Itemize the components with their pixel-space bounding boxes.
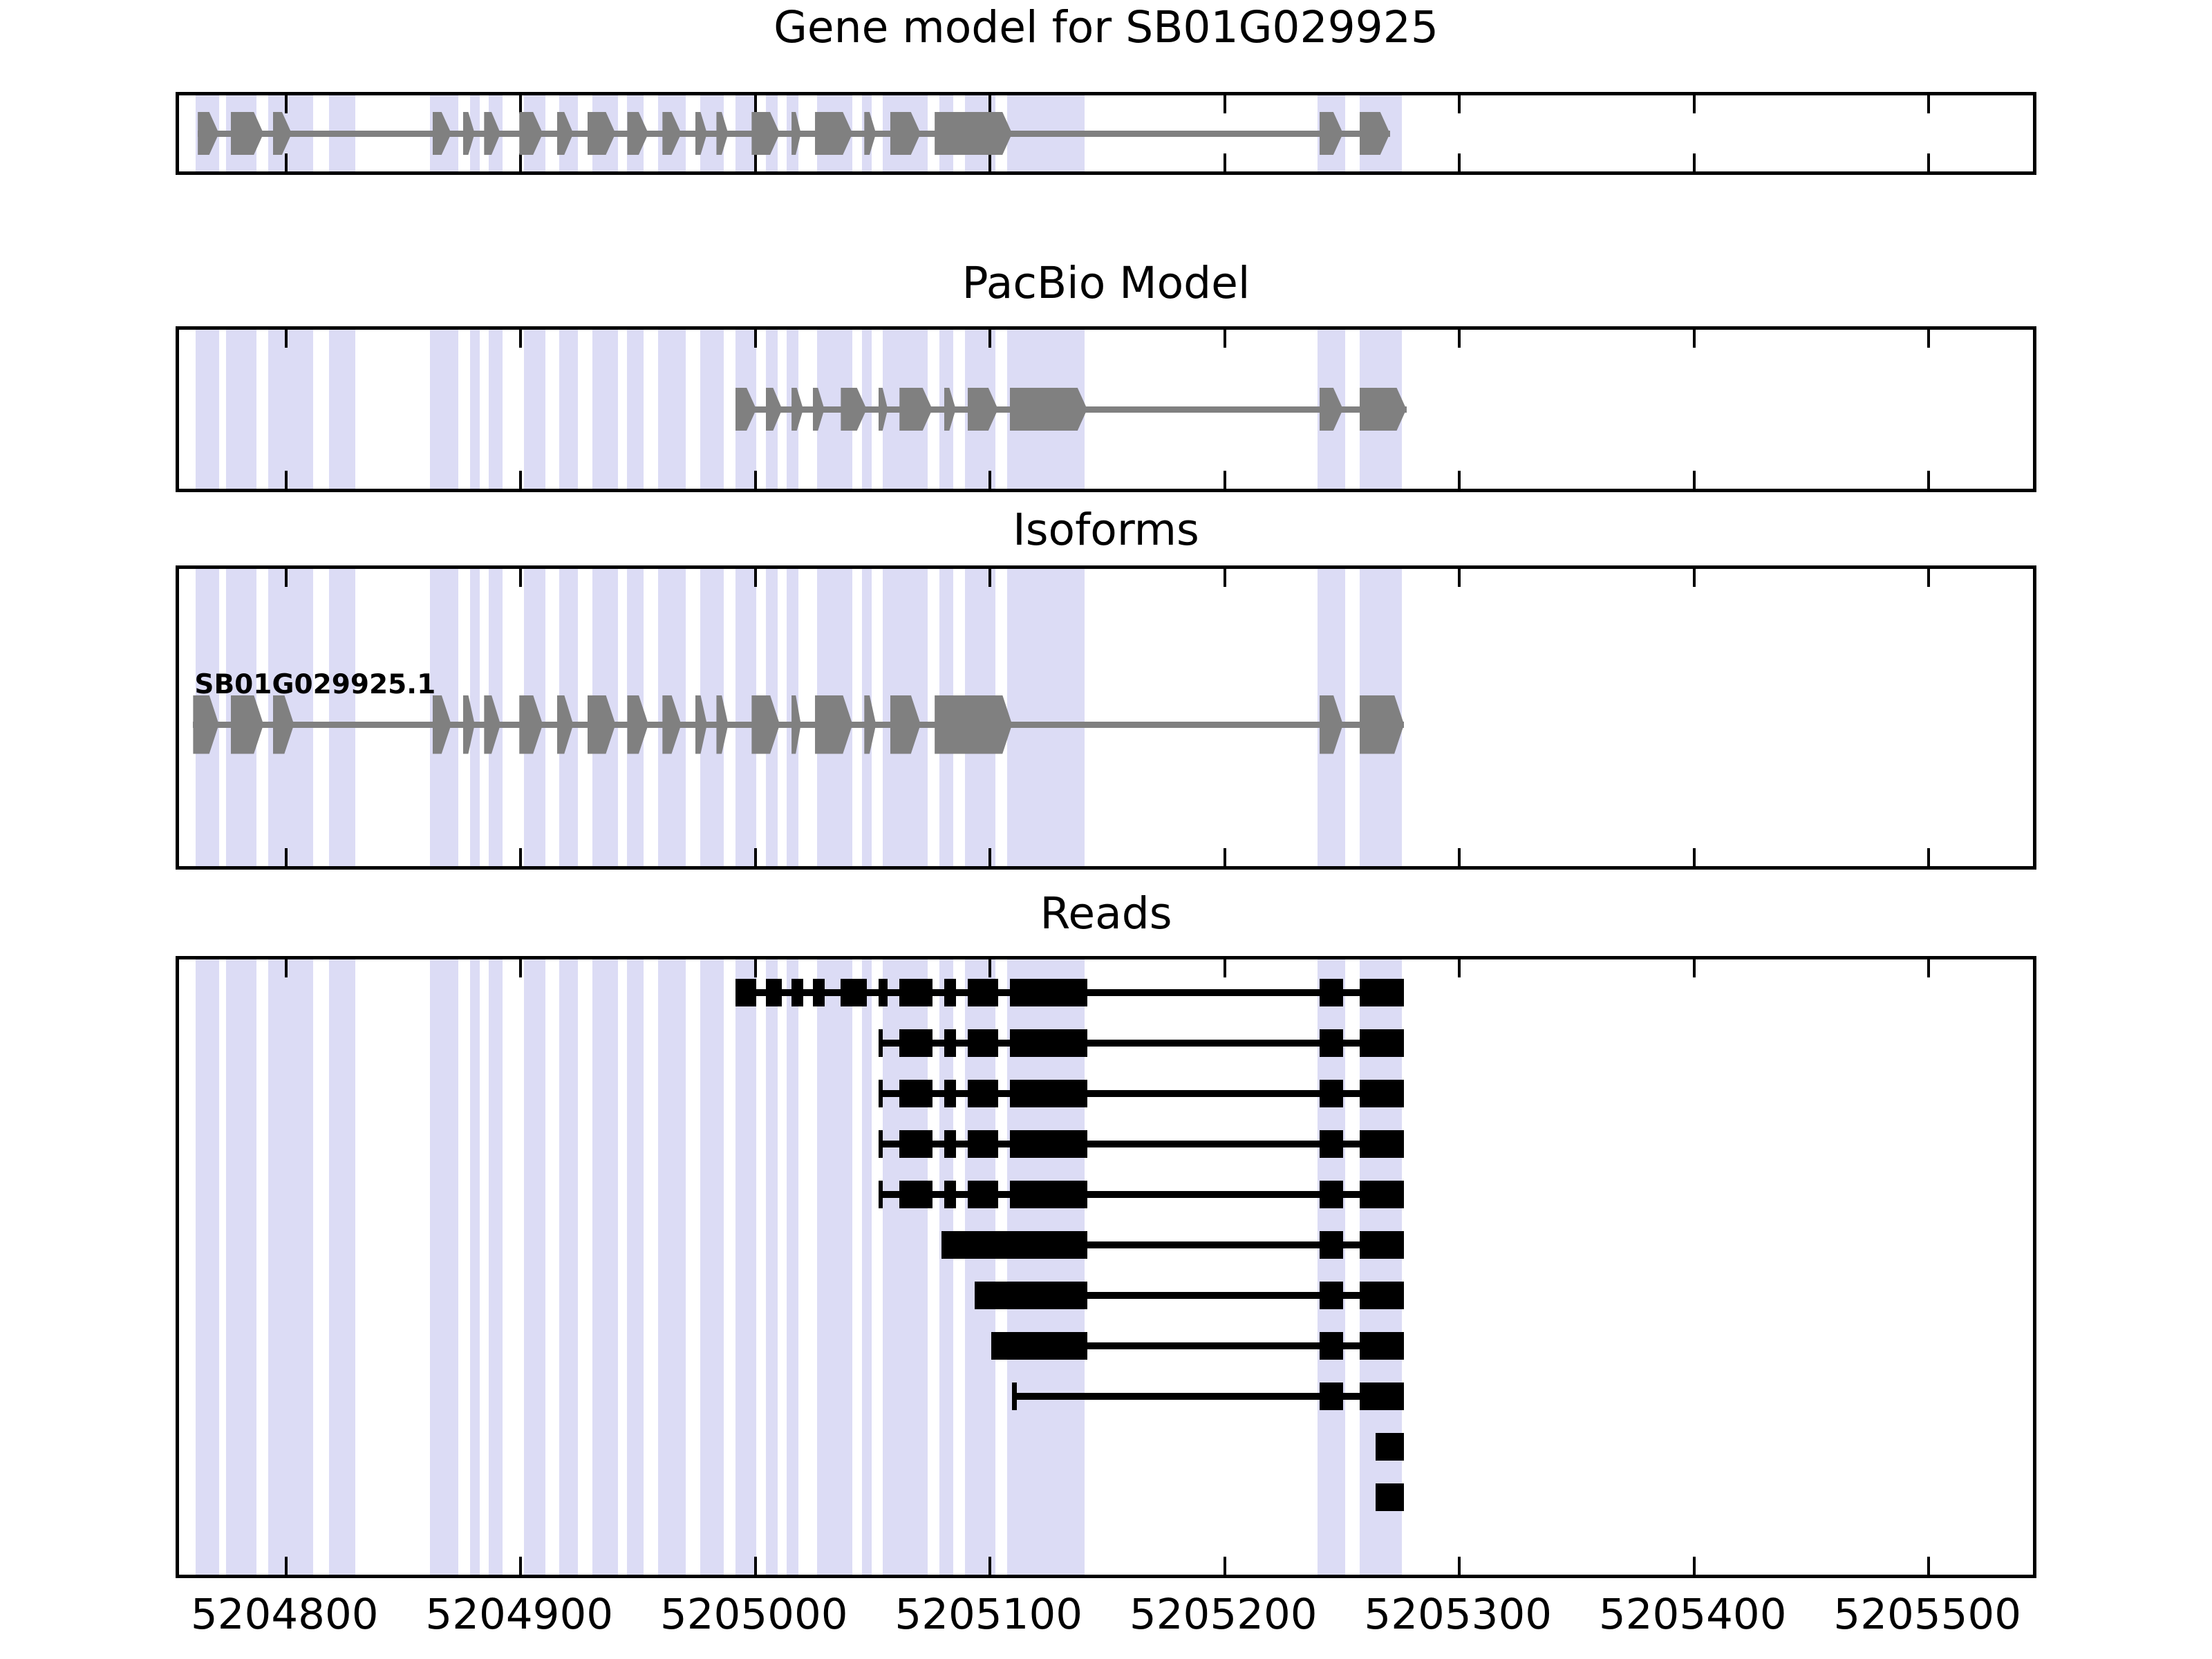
axis-tick bbox=[988, 569, 991, 587]
highlight-band bbox=[196, 330, 219, 489]
read-block[interactable] bbox=[968, 1029, 998, 1057]
read-block[interactable] bbox=[879, 1181, 883, 1208]
x-tick-label: 5204900 bbox=[425, 1590, 613, 1639]
exon-block[interactable] bbox=[557, 695, 574, 754]
panel-title-gene-model: Gene model for SB01G029925 bbox=[0, 6, 2212, 49]
read-block[interactable] bbox=[944, 1130, 956, 1158]
exon-block[interactable] bbox=[627, 112, 648, 155]
highlight-band bbox=[226, 959, 256, 1575]
exon-block[interactable] bbox=[273, 695, 294, 754]
x-tick-label: 5205400 bbox=[1599, 1590, 1787, 1639]
highlight-band bbox=[592, 330, 618, 489]
exon-block[interactable] bbox=[1320, 112, 1343, 155]
read-block[interactable] bbox=[1360, 1231, 1405, 1259]
read-block[interactable] bbox=[1320, 1282, 1343, 1309]
exon-block[interactable] bbox=[1360, 695, 1405, 754]
exon-block[interactable] bbox=[935, 695, 1012, 754]
axis-tick bbox=[1693, 959, 1696, 977]
axes-isoforms[interactable]: SB01G029925.1 bbox=[176, 565, 2036, 870]
read-block[interactable] bbox=[1360, 1181, 1405, 1208]
exon-block[interactable] bbox=[766, 388, 782, 431]
read-block[interactable] bbox=[968, 979, 998, 1006]
axis-tick bbox=[754, 848, 757, 866]
axis-tick bbox=[1927, 153, 1930, 171]
axis-tick bbox=[1927, 959, 1930, 977]
x-tick-label: 5205300 bbox=[1364, 1590, 1552, 1639]
read-block[interactable] bbox=[1010, 1080, 1087, 1107]
axis-tick bbox=[988, 959, 991, 977]
isoform-label: SB01G029925.1 bbox=[194, 669, 435, 700]
read-block[interactable] bbox=[1360, 1382, 1405, 1410]
read-block[interactable] bbox=[1010, 1181, 1087, 1208]
exon-block[interactable] bbox=[519, 695, 543, 754]
exon-block[interactable] bbox=[841, 388, 866, 431]
axis-tick bbox=[1693, 569, 1696, 587]
axis-tick bbox=[1224, 471, 1226, 489]
exon-block[interactable] bbox=[791, 695, 801, 754]
axis-tick bbox=[1458, 959, 1461, 977]
highlight-band bbox=[766, 959, 778, 1575]
read-block[interactable] bbox=[879, 1130, 883, 1158]
axis-tick bbox=[754, 153, 757, 171]
exon-block[interactable] bbox=[944, 388, 956, 431]
highlight-band bbox=[489, 330, 503, 489]
exon-block[interactable] bbox=[662, 112, 681, 155]
axis-tick bbox=[988, 848, 991, 866]
axis-tick bbox=[1927, 95, 1930, 113]
axis-tick bbox=[988, 95, 991, 113]
read-block[interactable] bbox=[791, 979, 803, 1006]
axis-tick bbox=[1224, 1557, 1226, 1575]
highlight-band bbox=[700, 330, 724, 489]
read-block[interactable] bbox=[879, 1029, 883, 1057]
highlight-band bbox=[489, 959, 503, 1575]
exon-block[interactable] bbox=[198, 112, 219, 155]
axis-tick bbox=[1693, 153, 1696, 171]
exon-block[interactable] bbox=[751, 695, 780, 754]
genome-browser-figure: Gene model for SB01G029925 PacBio Model … bbox=[0, 0, 2212, 1659]
read-block[interactable] bbox=[1376, 1433, 1404, 1461]
axes-gene-model[interactable] bbox=[176, 92, 2036, 175]
x-tick-label: 5205100 bbox=[894, 1590, 1082, 1639]
highlight-band bbox=[735, 959, 757, 1575]
read-block[interactable] bbox=[1376, 1483, 1404, 1511]
highlight-band bbox=[1007, 569, 1085, 866]
exon-block[interactable] bbox=[484, 112, 500, 155]
exon-block[interactable] bbox=[716, 112, 728, 155]
axis-tick bbox=[1927, 569, 1930, 587]
highlight-band bbox=[817, 959, 852, 1575]
highlight-band bbox=[524, 959, 545, 1575]
axes-pacbio-model[interactable] bbox=[176, 326, 2036, 492]
read-block[interactable] bbox=[944, 1080, 956, 1107]
exon-block[interactable] bbox=[695, 112, 707, 155]
highlight-band bbox=[862, 959, 872, 1575]
exon-block[interactable] bbox=[751, 112, 780, 155]
read-block[interactable] bbox=[899, 1080, 932, 1107]
exon-block[interactable] bbox=[1360, 112, 1390, 155]
exon-block[interactable] bbox=[791, 388, 803, 431]
read-block[interactable] bbox=[1360, 1080, 1405, 1107]
highlight-band bbox=[196, 959, 219, 1575]
exon-block[interactable] bbox=[791, 112, 801, 155]
read-block[interactable] bbox=[813, 979, 825, 1006]
exon-block[interactable] bbox=[273, 112, 292, 155]
read-block[interactable] bbox=[899, 1181, 932, 1208]
read-block[interactable] bbox=[975, 1282, 1087, 1309]
highlight-band bbox=[329, 569, 355, 866]
exon-block[interactable] bbox=[433, 112, 451, 155]
read-block[interactable] bbox=[991, 1332, 1087, 1360]
axis-tick bbox=[285, 959, 288, 977]
axis-tick bbox=[285, 95, 288, 113]
exon-block[interactable] bbox=[864, 695, 876, 754]
exon-block[interactable] bbox=[815, 695, 852, 754]
read-block[interactable] bbox=[1320, 1382, 1343, 1410]
highlight-band bbox=[787, 959, 798, 1575]
read-block[interactable] bbox=[1320, 1332, 1343, 1360]
exon-block[interactable] bbox=[879, 388, 888, 431]
x-tick-label: 5205200 bbox=[1130, 1590, 1318, 1639]
highlight-band bbox=[658, 330, 686, 489]
exon-block[interactable] bbox=[735, 388, 757, 431]
axis-tick bbox=[519, 959, 522, 977]
exon-block[interactable] bbox=[484, 695, 500, 754]
axis-tick bbox=[754, 569, 757, 587]
highlight-band bbox=[329, 959, 355, 1575]
axis-tick bbox=[1224, 569, 1226, 587]
axis-tick bbox=[988, 1557, 991, 1575]
axis-tick bbox=[988, 330, 991, 348]
axis-tick bbox=[1693, 330, 1696, 348]
exon-block[interactable] bbox=[557, 112, 574, 155]
exon-block[interactable] bbox=[231, 695, 264, 754]
read-block[interactable] bbox=[1010, 1029, 1087, 1057]
axis-tick bbox=[754, 959, 757, 977]
highlight-band bbox=[592, 959, 618, 1575]
exon-block[interactable] bbox=[1320, 388, 1343, 431]
axis-tick bbox=[285, 330, 288, 348]
read-block[interactable] bbox=[944, 979, 956, 1006]
highlight-band bbox=[524, 330, 545, 489]
read-block[interactable] bbox=[735, 979, 757, 1006]
read-block[interactable] bbox=[1320, 979, 1343, 1006]
read-block[interactable] bbox=[1360, 1282, 1405, 1309]
read-block[interactable] bbox=[1360, 1029, 1405, 1057]
highlight-band bbox=[559, 959, 578, 1575]
highlight-band bbox=[226, 330, 256, 489]
read-block[interactable] bbox=[968, 1181, 998, 1208]
axis-tick bbox=[285, 848, 288, 866]
read-block[interactable] bbox=[899, 1029, 932, 1057]
axis-tick bbox=[1224, 95, 1226, 113]
read-block[interactable] bbox=[1010, 979, 1087, 1006]
axis-tick bbox=[519, 330, 522, 348]
exon-block[interactable] bbox=[815, 112, 852, 155]
axis-tick bbox=[1224, 153, 1226, 171]
axis-tick bbox=[1927, 848, 1930, 866]
read-block[interactable] bbox=[1320, 1231, 1343, 1259]
axes-reads[interactable] bbox=[176, 956, 2036, 1578]
axis-tick bbox=[1693, 848, 1696, 866]
highlight-band bbox=[627, 330, 644, 489]
exon-block[interactable] bbox=[231, 112, 264, 155]
read-block[interactable] bbox=[1012, 1382, 1017, 1410]
panel-title-isoforms: Isoforms bbox=[0, 508, 2212, 552]
highlight-band bbox=[268, 330, 313, 489]
highlight-band bbox=[627, 959, 644, 1575]
highlight-band bbox=[268, 959, 313, 1575]
x-tick-label: 5205500 bbox=[1833, 1590, 2021, 1639]
highlight-band bbox=[658, 959, 686, 1575]
exon-block[interactable] bbox=[662, 695, 681, 754]
read-block[interactable] bbox=[1320, 1029, 1343, 1057]
exon-block[interactable] bbox=[864, 112, 876, 155]
read-block[interactable] bbox=[968, 1130, 998, 1158]
axis-tick bbox=[285, 153, 288, 171]
exon-block[interactable] bbox=[935, 112, 1012, 155]
read-block[interactable] bbox=[1320, 1080, 1343, 1107]
read-block[interactable] bbox=[968, 1080, 998, 1107]
highlight-band bbox=[430, 959, 458, 1575]
exon-block[interactable] bbox=[588, 695, 616, 754]
highlight-band bbox=[430, 330, 458, 489]
highlight-band bbox=[700, 959, 724, 1575]
axis-tick bbox=[1927, 1557, 1930, 1575]
exon-block[interactable] bbox=[1360, 388, 1407, 431]
exon-block[interactable] bbox=[588, 112, 616, 155]
panel-title-pacbio-model: PacBio Model bbox=[0, 261, 2212, 305]
axis-tick bbox=[1458, 95, 1461, 113]
exon-block[interactable] bbox=[519, 112, 543, 155]
exon-block[interactable] bbox=[1010, 388, 1087, 431]
highlight-band bbox=[329, 330, 355, 489]
axis-tick bbox=[1458, 1557, 1461, 1575]
read-block[interactable] bbox=[944, 1181, 956, 1208]
read-intron-line bbox=[1012, 1393, 1404, 1400]
axis-tick bbox=[1693, 1557, 1696, 1575]
axis-tick bbox=[519, 569, 522, 587]
exon-block[interactable] bbox=[1320, 695, 1343, 754]
axis-tick bbox=[1458, 153, 1461, 171]
highlight-band bbox=[470, 330, 480, 489]
axis-tick bbox=[1458, 569, 1461, 587]
axis-tick bbox=[519, 1557, 522, 1575]
read-block[interactable] bbox=[1360, 1332, 1405, 1360]
axis-tick bbox=[285, 569, 288, 587]
exon-block[interactable] bbox=[695, 695, 707, 754]
axis-tick bbox=[519, 471, 522, 489]
exon-block[interactable] bbox=[716, 695, 728, 754]
axis-tick bbox=[754, 1557, 757, 1575]
axis-tick bbox=[519, 153, 522, 171]
read-block[interactable] bbox=[841, 979, 866, 1006]
highlight-band bbox=[559, 330, 578, 489]
read-block[interactable] bbox=[1320, 1130, 1343, 1158]
read-block[interactable] bbox=[899, 1130, 932, 1158]
exon-block[interactable] bbox=[813, 388, 825, 431]
axis-tick bbox=[1693, 95, 1696, 113]
read-block[interactable] bbox=[899, 979, 932, 1006]
axis-tick bbox=[1224, 848, 1226, 866]
exon-block[interactable] bbox=[890, 112, 921, 155]
axis-tick bbox=[1927, 330, 1930, 348]
read-block[interactable] bbox=[1320, 1181, 1343, 1208]
axis-tick bbox=[754, 471, 757, 489]
axis-tick bbox=[754, 330, 757, 348]
x-axis-tick-labels: 5204800520490052050005205100520520052053… bbox=[0, 1590, 2212, 1645]
exon-block[interactable] bbox=[968, 388, 998, 431]
read-block[interactable] bbox=[1360, 1130, 1405, 1158]
axis-tick bbox=[988, 153, 991, 171]
axis-tick bbox=[285, 471, 288, 489]
read-block[interactable] bbox=[1360, 979, 1405, 1006]
exon-block[interactable] bbox=[627, 695, 648, 754]
read-block[interactable] bbox=[941, 1231, 1087, 1259]
axis-tick bbox=[1927, 471, 1930, 489]
panel-title-reads: Reads bbox=[0, 892, 2212, 935]
axis-tick bbox=[754, 95, 757, 113]
highlight-band bbox=[470, 959, 480, 1575]
axis-tick bbox=[1458, 848, 1461, 866]
axis-tick bbox=[519, 95, 522, 113]
axis-tick bbox=[285, 1557, 288, 1575]
axis-tick bbox=[1458, 330, 1461, 348]
read-block[interactable] bbox=[944, 1029, 956, 1057]
read-block[interactable] bbox=[879, 979, 888, 1006]
axis-tick bbox=[519, 848, 522, 866]
x-tick-label: 5204800 bbox=[191, 1590, 379, 1639]
axis-tick bbox=[1224, 959, 1226, 977]
exon-block[interactable] bbox=[463, 695, 475, 754]
read-block[interactable] bbox=[766, 979, 782, 1006]
x-tick-label: 5205000 bbox=[660, 1590, 848, 1639]
exon-block[interactable] bbox=[193, 695, 218, 754]
exon-block[interactable] bbox=[890, 695, 921, 754]
read-block[interactable] bbox=[1010, 1130, 1087, 1158]
axis-tick bbox=[1458, 471, 1461, 489]
exon-block[interactable] bbox=[433, 695, 451, 754]
axis-tick bbox=[1224, 330, 1226, 348]
exon-block[interactable] bbox=[463, 112, 475, 155]
axis-tick bbox=[988, 471, 991, 489]
exon-block[interactable] bbox=[899, 388, 932, 431]
axis-tick bbox=[1693, 471, 1696, 489]
read-block[interactable] bbox=[879, 1080, 883, 1107]
